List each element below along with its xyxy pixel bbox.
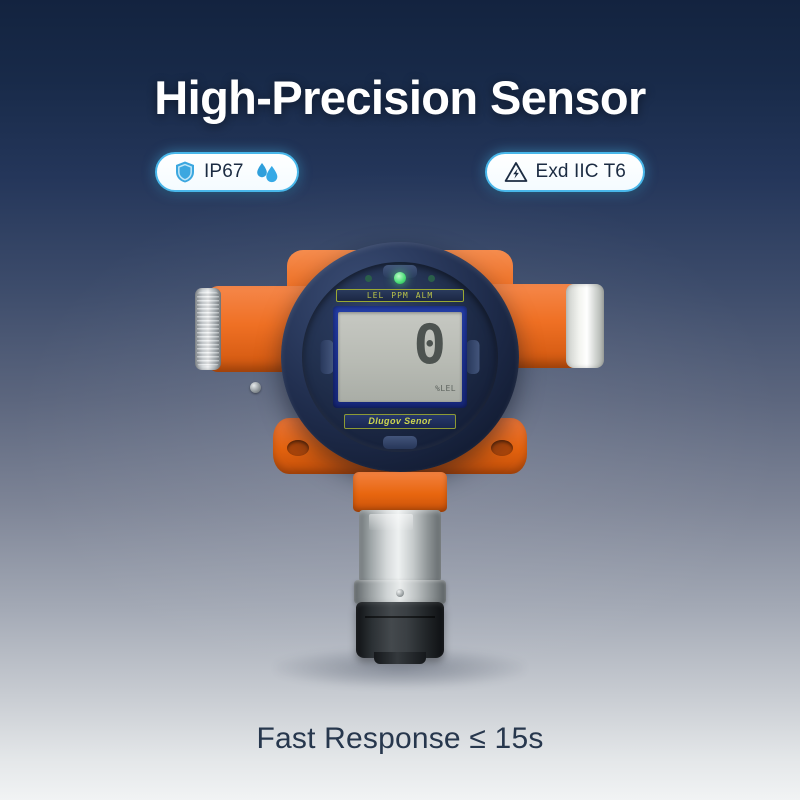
probe-screw-icon — [396, 589, 404, 597]
badge-ip67[interactable]: IP67 — [155, 152, 299, 192]
bezel-notch-icon — [321, 340, 334, 374]
bezel-notch-icon — [467, 340, 480, 374]
lcd-bezel: 0 %LEL — [333, 306, 467, 408]
segment-label-ppm: PPM — [391, 292, 408, 300]
badge-exd-iic-t6[interactable]: Exd IIC T6 — [485, 152, 645, 192]
status-led-left-icon — [365, 275, 372, 282]
lcd-segment-strip: LEL PPM ALM — [336, 289, 464, 302]
product-image: LEL PPM ALM 0 %LEL Dlugov Senor — [190, 232, 610, 672]
status-led-group — [365, 272, 435, 284]
bezel-notch-icon — [383, 436, 417, 449]
page-title: High-Precision Sensor — [0, 70, 800, 125]
detector-housing: LEL PPM ALM 0 %LEL Dlugov Senor — [281, 242, 519, 472]
sensor-collar — [353, 472, 447, 512]
left-port-cap-icon — [195, 288, 221, 370]
shield-icon — [174, 160, 196, 184]
status-led-right-icon — [428, 275, 435, 282]
lcd-reading-unit: %LEL — [435, 384, 456, 393]
right-port-cap-icon — [566, 284, 604, 368]
sensor-cap — [356, 602, 444, 658]
segment-label-lel: LEL — [367, 292, 384, 300]
steel-probe-body — [359, 510, 441, 582]
brand-nameplate-label: Dlugov Senor — [368, 417, 431, 426]
product-banner: High-Precision Sensor IP67 — [0, 0, 800, 800]
brand-nameplate: Dlugov Senor — [344, 414, 456, 429]
status-led-main-icon — [394, 272, 406, 284]
tagline: Fast Response ≤ 15s — [0, 722, 800, 756]
certification-badge-row: IP67 Exd IIC T6 — [0, 152, 800, 192]
segment-label-alm: ALM — [416, 292, 433, 300]
body-screw-icon — [250, 382, 261, 393]
badge-ip67-label: IP67 — [204, 161, 244, 183]
lcd-reading-value: 0 — [413, 318, 444, 372]
explosion-proof-warning-icon — [504, 161, 528, 183]
badge-exd-iic-t6-label: Exd IIC T6 — [536, 161, 626, 183]
water-droplets-icon — [254, 160, 280, 184]
lcd-screen: 0 %LEL — [338, 312, 462, 402]
sensor-cap-slot-icon — [365, 616, 435, 618]
